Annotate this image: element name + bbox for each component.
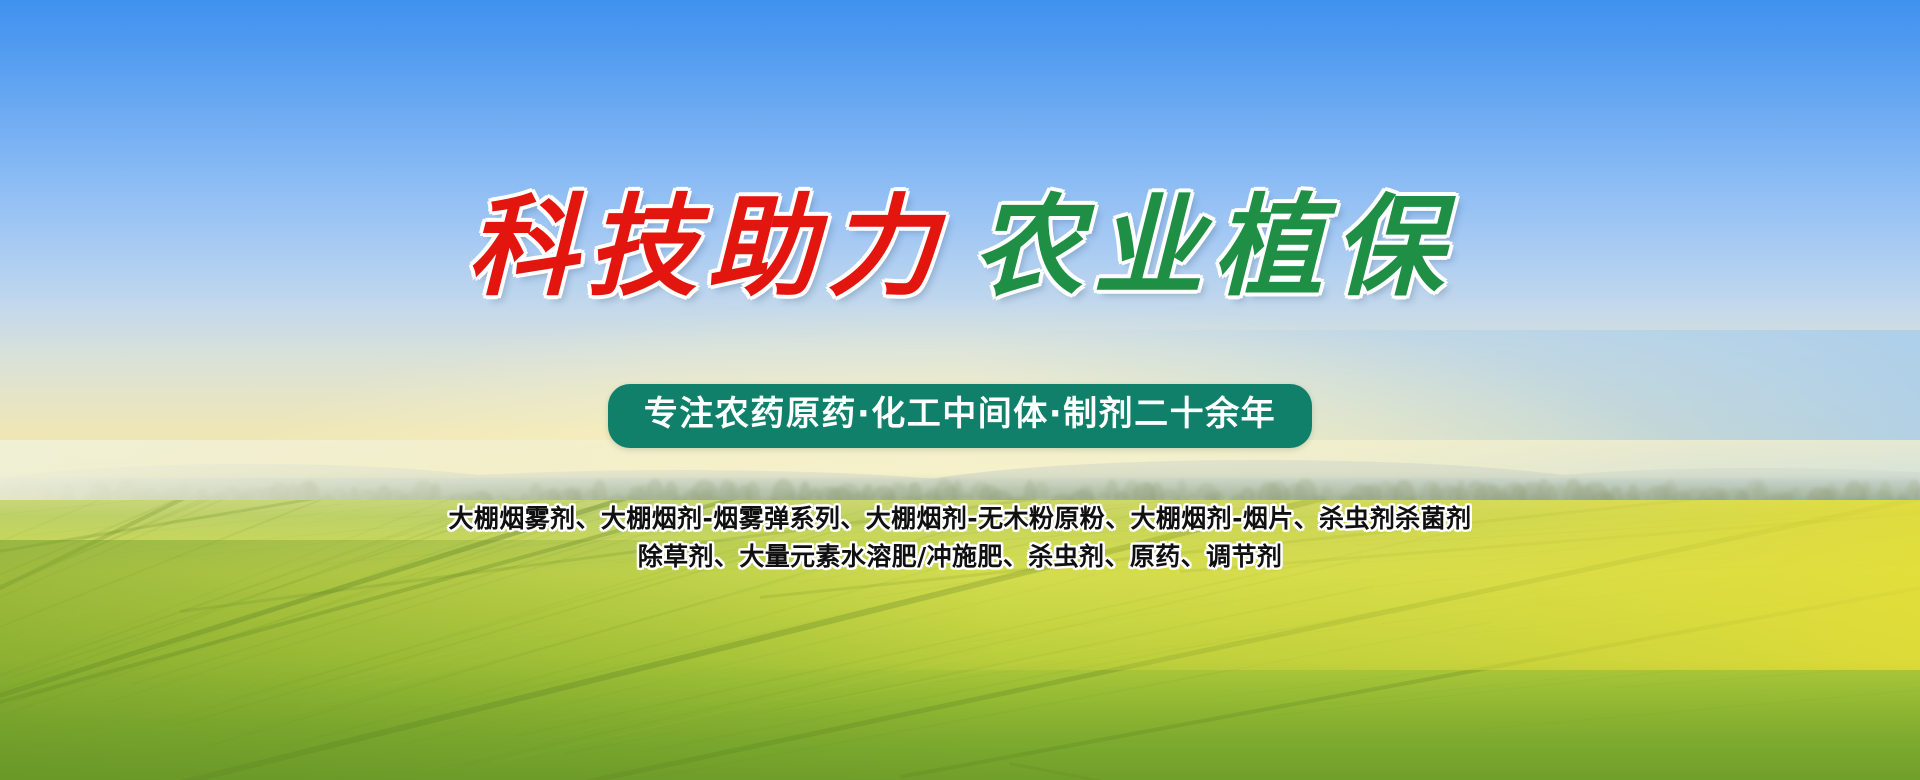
product-list: 大棚烟雾剂、大棚烟剂-烟雾弹系列、大棚烟剂-无木粉原粉、大棚烟剂-烟片、杀虫剂杀… — [0, 500, 1920, 576]
product-line-2: 除草剂、大量元素水溶肥/冲施肥、杀虫剂、原药、调节剂 — [0, 538, 1920, 576]
subtitle-pill: 专注农药原药·化工中间体·制剂二十余年 — [608, 384, 1312, 448]
subtitle-text: 专注农药原药·化工中间体·制剂二十余年 — [644, 393, 1276, 436]
headline-red-text: 科技助力 — [467, 186, 947, 309]
product-line-1: 大棚烟雾剂、大棚烟剂-烟雾弹系列、大棚烟剂-无木粉原粉、大棚烟剂-烟片、杀虫剂杀… — [0, 500, 1920, 538]
page-title: 科技助力农业植保 — [0, 186, 1920, 309]
hero-banner: 科技助力农业植保 专注农药原药·化工中间体·制剂二十余年 大棚烟雾剂、大棚烟剂-… — [0, 0, 1920, 780]
subtitle-pill-wrap: 专注农药原药·化工中间体·制剂二十余年 — [0, 384, 1920, 448]
headline-green-text: 农业植保 — [973, 186, 1453, 309]
field-bottom-shade — [0, 660, 1920, 780]
